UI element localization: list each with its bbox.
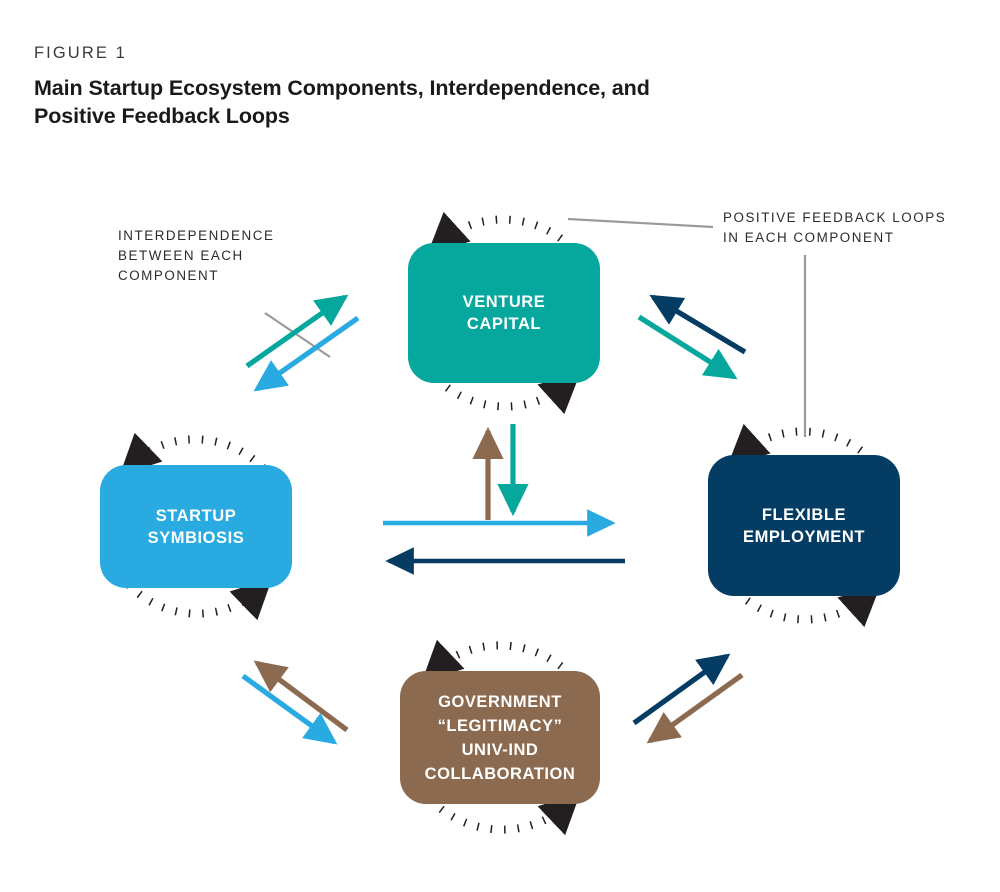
node-venture-capital[interactable]: VENTURE CAPITAL [408,243,600,383]
arrow-fe-to-vc [653,297,745,352]
arrow-pair-fe-vc [639,297,745,377]
annotation-interdependence: INTERDEPENDENCE BETWEEN EACH COMPONENT [118,226,274,286]
node-flexible-employment-label: FLEXIBLE EMPLOYMENT [743,504,865,548]
arrow-gov-to-fe [634,656,727,723]
arrow-vc-to-fe [639,317,734,377]
arrow-fe-to-gov [650,675,742,741]
leader-line-feedback [568,219,713,227]
arrow-ss-to-vc [247,297,345,366]
leader-line-interdependence [265,313,330,357]
arrow-pair-gov-fe [634,656,742,741]
arrow-pair-gov-vc [488,424,513,520]
node-venture-capital-label: VENTURE CAPITAL [463,291,546,335]
node-government-label: GOVERNMENT “LEGITIMACY” UNIV-IND COLLABO… [425,690,576,786]
arrow-pair-gov-ss [243,663,347,742]
arrow-pair-ss-fe [383,523,625,561]
arrow-vc-to-ss [257,318,358,389]
arrow-pair-ss-vc [247,297,358,389]
annotation-positive-feedback-loops: POSITIVE FEEDBACK LOOPS IN EACH COMPONEN… [723,208,946,248]
node-startup-symbiosis-label: STARTUP SYMBIOSIS [148,505,245,549]
node-government[interactable]: GOVERNMENT “LEGITIMACY” UNIV-IND COLLABO… [400,671,600,804]
node-startup-symbiosis[interactable]: STARTUP SYMBIOSIS [100,465,292,588]
node-flexible-employment[interactable]: FLEXIBLE EMPLOYMENT [708,455,900,596]
figure-page: FIGURE 1 Main Startup Ecosystem Componen… [0,0,1000,892]
